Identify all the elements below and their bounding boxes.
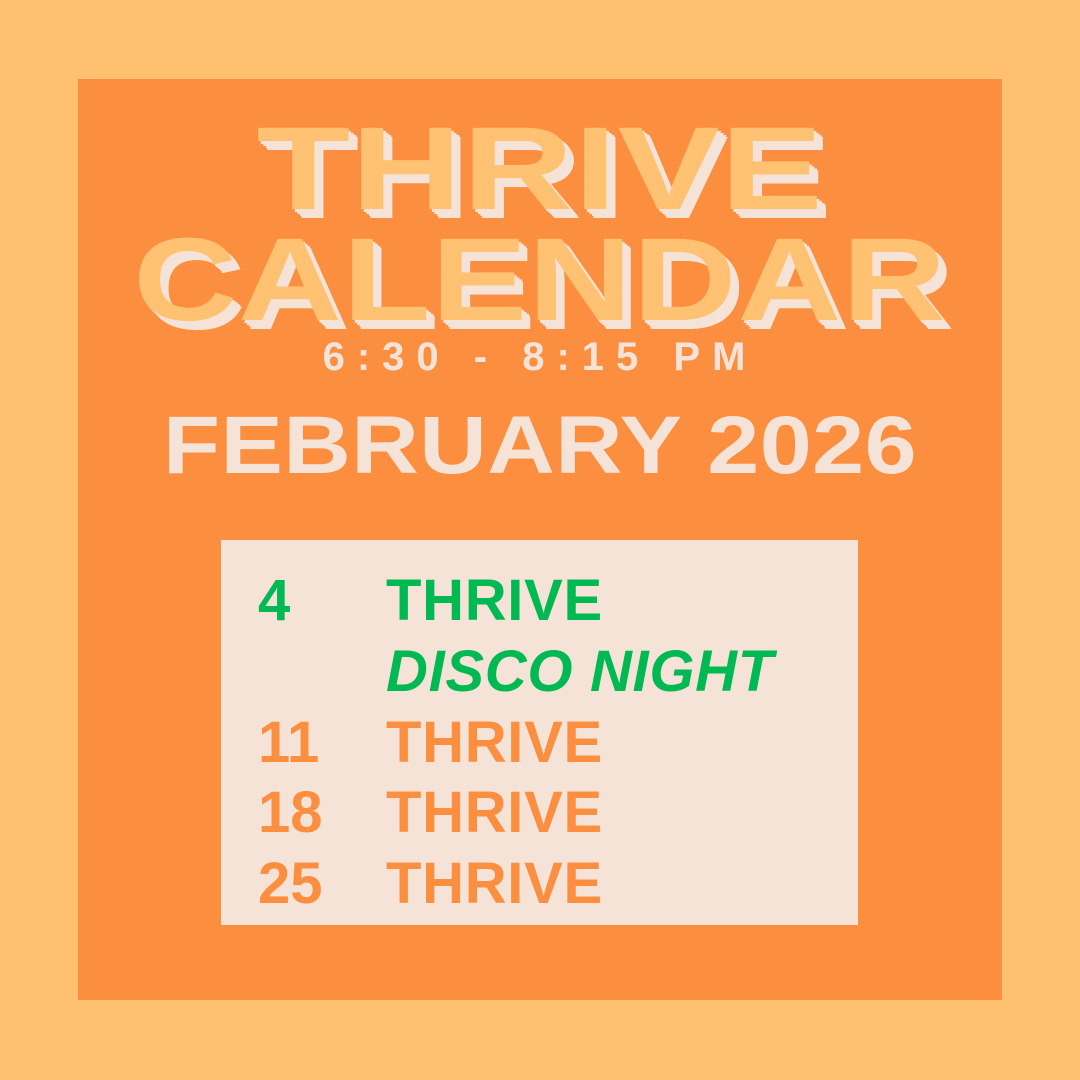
schedule-card: 4THRIVEDISCO NIGHT11THRIVE18THRIVE25THRI… — [221, 540, 858, 925]
schedule-row[interactable]: 18THRIVE — [221, 778, 858, 849]
schedule-row-date: 25 — [258, 849, 386, 920]
schedule-row-label: THRIVE — [386, 849, 603, 920]
schedule-row-sublabel: DISCO NIGHT — [221, 637, 858, 708]
schedule-row-label: THRIVE — [386, 778, 603, 849]
schedule-row[interactable]: 4THRIVE — [221, 566, 858, 637]
schedule-row-date: 18 — [258, 778, 386, 849]
poster-inner-panel: THRIVE CALENDAR 6:30 - 8:15 PM FEBRUARY … — [78, 79, 1002, 1000]
poster-title-block: THRIVE CALENDAR — [78, 115, 1002, 334]
schedule-row[interactable]: 25THRIVE — [221, 849, 858, 920]
title-line-calendar: CALENDAR — [78, 226, 1002, 335]
event-time-range: 6:30 - 8:15 PM — [78, 337, 1002, 377]
schedule-row-label: THRIVE — [386, 566, 603, 637]
poster-canvas: THRIVE CALENDAR 6:30 - 8:15 PM FEBRUARY … — [0, 0, 1080, 1080]
title-line-thrive: THRIVE — [78, 115, 1002, 224]
schedule-row-date: 4 — [258, 566, 386, 637]
schedule-row-date: 11 — [258, 708, 386, 779]
month-year-heading: FEBRUARY 2026 — [78, 405, 1002, 487]
schedule-row[interactable]: 11THRIVE — [221, 708, 858, 779]
schedule-row-label: THRIVE — [386, 708, 603, 779]
